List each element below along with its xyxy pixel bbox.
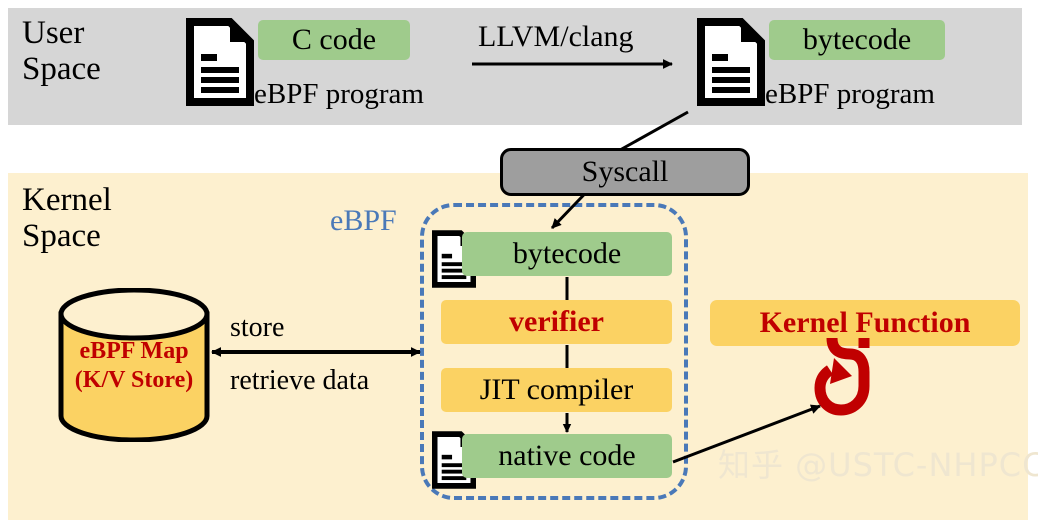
kernel-space-label: Kernel Space [22,183,112,254]
syscall-box: Syscall [500,148,750,196]
llvm-clang-label: LLVM/clang [478,20,634,54]
retrieve-data-label: retrieve data [230,365,369,397]
bytecode-chip: bytecode [769,20,945,60]
watermark: 知乎 @USTC-NHPCC [718,440,1038,486]
document-icon [186,18,254,106]
hook-icon [812,336,882,420]
c-code-chip: C code [258,20,410,60]
document-icon [697,18,765,106]
ebpf-map-label: eBPF Map (K/V Store) [57,337,211,395]
compiled-program-caption: eBPF program [765,78,935,111]
stage-verifier: verifier [441,300,672,344]
user-space-label: User Space [22,16,101,87]
source-program-caption: eBPF program [254,78,424,111]
stage-native-code: native code [462,434,672,478]
store-label: store [230,312,284,344]
stage-bytecode: bytecode [462,232,672,276]
stage-jit-compiler: JIT compiler [441,368,672,412]
ebpf-container-label: eBPF [330,204,397,238]
diagram-canvas: User Space Kernel Space C code eBPF prog… [0,0,1038,527]
